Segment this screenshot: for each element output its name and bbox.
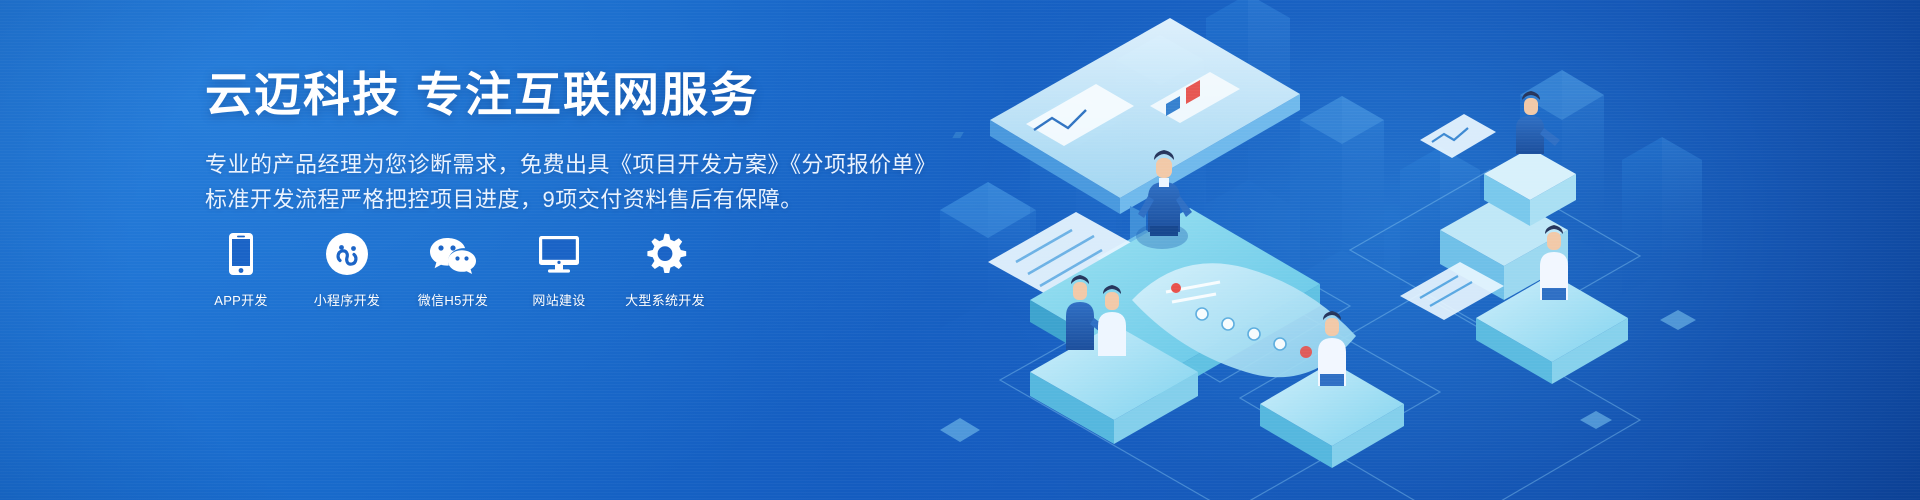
mobile-phone-icon xyxy=(226,232,256,276)
service-label-app: APP开发 xyxy=(214,290,268,309)
wechat-icon xyxy=(428,232,478,276)
service-item-website[interactable]: 网站建设 xyxy=(523,232,595,309)
monitor-icon xyxy=(537,232,581,276)
subtitle-line-1: 专业的产品经理为您诊断需求，免费出具《项目开发方案》《分项报价单》 xyxy=(205,147,965,183)
service-item-wechat-h5[interactable]: 微信H5开发 xyxy=(417,232,489,309)
service-label-large-system: 大型系统开发 xyxy=(625,290,705,309)
gear-icon xyxy=(643,232,687,276)
banner-subtitle: 专业的产品经理为您诊断需求，免费出具《项目开发方案》《分项报价单》 标准开发流程… xyxy=(205,147,965,218)
floating-panel-small-top xyxy=(1420,114,1496,158)
service-list: APP开发 小程序开发 xyxy=(205,232,701,309)
service-label-website: 网站建设 xyxy=(532,290,585,309)
service-label-miniprogram: 小程序开发 xyxy=(314,290,381,309)
service-item-large-system[interactable]: 大型系统开发 xyxy=(629,232,701,309)
banner-copy: 云迈科技 专注互联网服务 专业的产品经理为您诊断需求，免费出具《项目开发方案》《… xyxy=(205,66,965,218)
service-item-app[interactable]: APP开发 xyxy=(205,232,277,309)
subtitle-line-2: 标准开发流程严格把控项目进度，9项交付资料售后有保障。 xyxy=(205,182,965,218)
service-label-wechat-h5: 微信H5开发 xyxy=(418,290,488,309)
page-title: 云迈科技 专注互联网服务 xyxy=(205,66,965,125)
service-item-miniprogram[interactable]: 小程序开发 xyxy=(311,232,383,309)
promo-banner: 云迈科技 专注互联网服务 专业的产品经理为您诊断需求，免费出具《项目开发方案》《… xyxy=(0,0,1920,500)
illustration xyxy=(880,0,1920,500)
mini-program-icon xyxy=(325,232,369,276)
